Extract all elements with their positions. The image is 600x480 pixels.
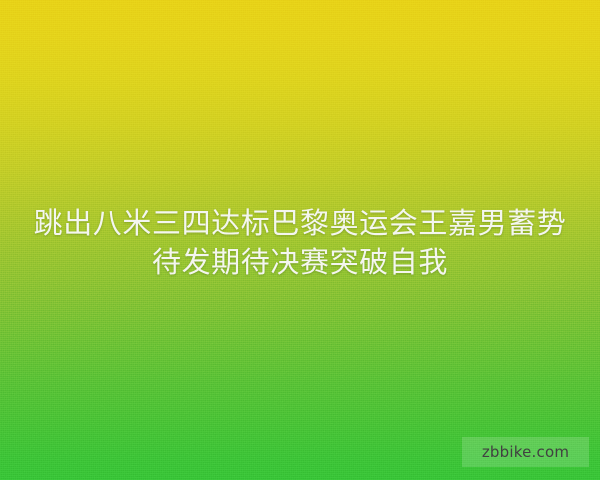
headline-title: 跳出八米三四达标巴黎奥运会王嘉男蓄势待发期待决赛突破自我	[22, 204, 578, 282]
watermark-badge: zbbike.com	[462, 437, 589, 467]
image-card: 跳出八米三四达标巴黎奥运会王嘉男蓄势待发期待决赛突破自我 zbbike.com	[0, 0, 600, 480]
headline-line-1: 跳出八米三四达标巴黎奥运会王嘉男蓄势	[34, 206, 567, 240]
watermark-label: zbbike.com	[482, 445, 569, 460]
headline-line-2: 待发期待决赛突破自我	[152, 245, 448, 279]
headline-block: 跳出八米三四达标巴黎奥运会王嘉男蓄势待发期待决赛突破自我	[0, 204, 600, 282]
